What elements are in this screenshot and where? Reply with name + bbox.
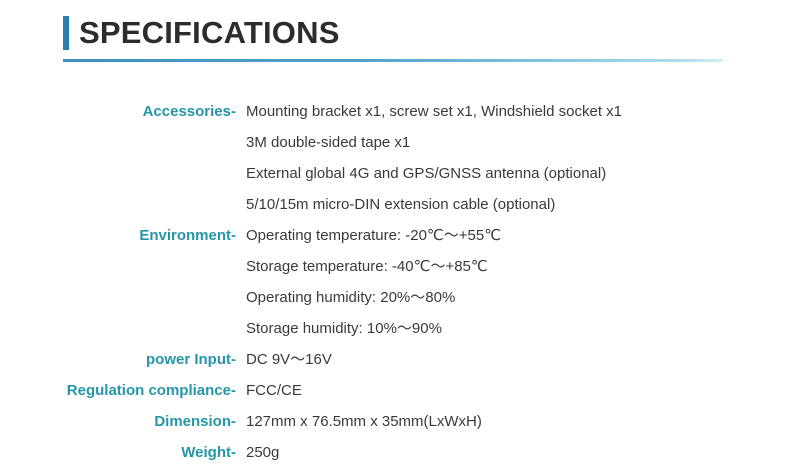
spec-value: Storage temperature: -40℃～+85℃ [236, 251, 488, 282]
spec-row: power Input-DC 9V～16V [0, 344, 786, 375]
spec-value: Operating humidity: 20%～80% [236, 282, 455, 313]
spec-value: 250g [236, 437, 279, 468]
spec-label: Regulation compliance- [0, 375, 236, 406]
spec-value: FCC/CE [236, 375, 302, 406]
spec-label: Accessories- [0, 96, 236, 127]
spec-value: External global 4G and GPS/GNSS antenna … [236, 158, 606, 189]
spec-value: DC 9V～16V [236, 344, 332, 375]
spec-row: Regulation compliance-FCC/CE [0, 375, 786, 406]
spec-row: Storage temperature: -40℃～+85℃ [0, 251, 786, 282]
spec-row: Weight-250g [0, 437, 786, 468]
title-accent-bar [63, 16, 69, 50]
spec-value: 5/10/15m micro-DIN extension cable (opti… [236, 189, 555, 220]
spec-row: Environment-Operating temperature: -20℃～… [0, 220, 786, 251]
spec-row: 3M double-sided tape x1 [0, 127, 786, 158]
spec-row: 5/10/15m micro-DIN extension cable (opti… [0, 189, 786, 220]
spec-value: Storage humidity: 10%～90% [236, 313, 442, 344]
spec-value: 3M double-sided tape x1 [236, 127, 410, 158]
spec-value: Mounting bracket x1, screw set x1, Winds… [236, 96, 622, 127]
spec-label: power Input- [0, 344, 236, 375]
spec-row: Accessories-Mounting bracket x1, screw s… [0, 96, 786, 127]
page-title: SPECIFICATIONS [79, 16, 340, 50]
header-divider-rule [63, 59, 723, 62]
spec-row: Operating humidity: 20%～80% [0, 282, 786, 313]
page-title-row: SPECIFICATIONS [63, 14, 340, 52]
specifications-header: SPECIFICATIONS [0, 0, 786, 70]
spec-label: Weight- [0, 437, 236, 468]
spec-row: Dimension-127mm x 76.5mm x 35mm(LxWxH) [0, 406, 786, 437]
spec-label: Environment- [0, 220, 236, 251]
spec-row: External global 4G and GPS/GNSS antenna … [0, 158, 786, 189]
spec-label: Dimension- [0, 406, 236, 437]
spec-row: Storage humidity: 10%～90% [0, 313, 786, 344]
specifications-table: Accessories-Mounting bracket x1, screw s… [0, 96, 786, 468]
spec-value: 127mm x 76.5mm x 35mm(LxWxH) [236, 406, 482, 437]
spec-value: Operating temperature: -20℃～+55℃ [236, 220, 501, 251]
